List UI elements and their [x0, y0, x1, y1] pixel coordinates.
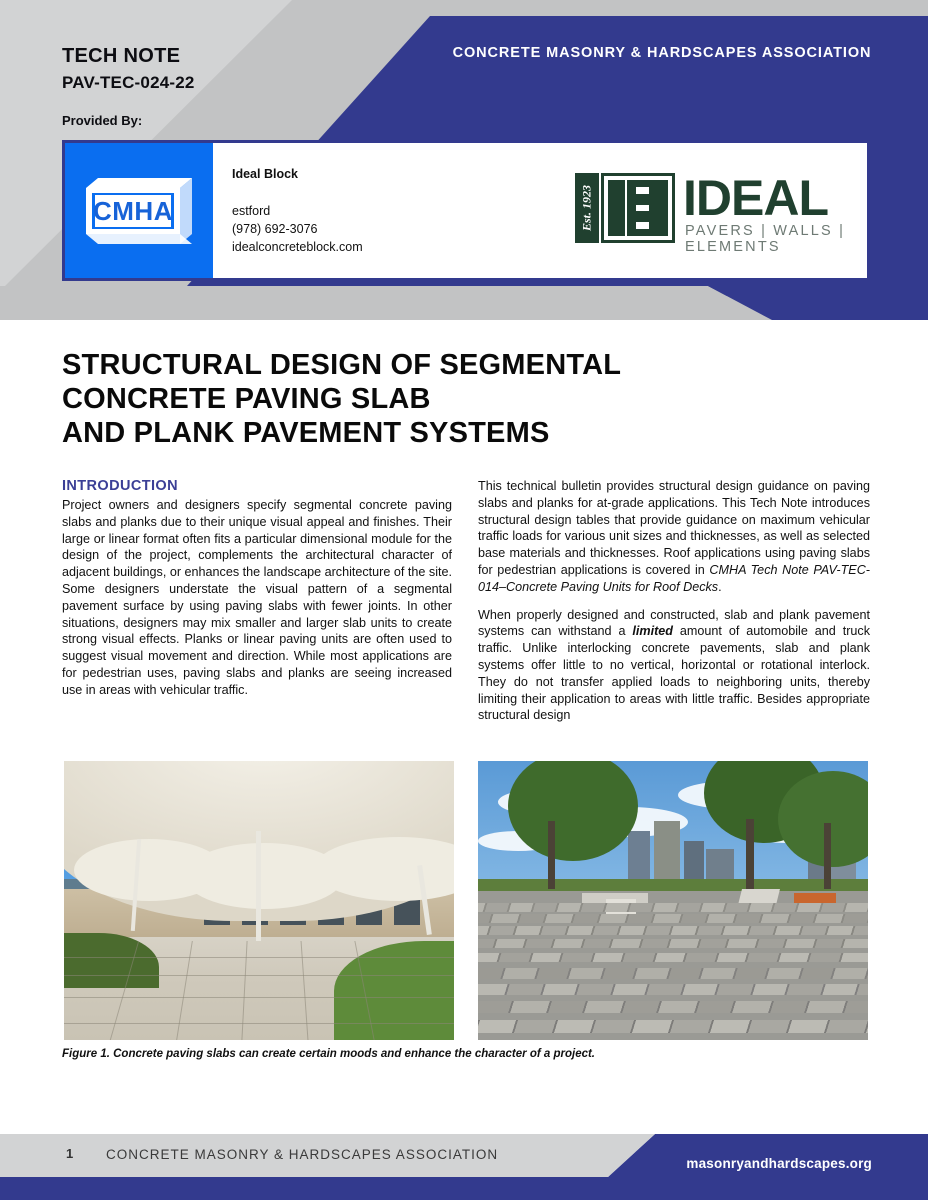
photo2-paver-row — [478, 968, 868, 979]
page-title: STRUCTURAL DESIGN OF SEGMENTAL CONCRETE … — [62, 348, 802, 450]
photo1-joint-line — [64, 957, 454, 958]
photo2-paver-row — [478, 953, 868, 962]
photo2-tree-trunk — [824, 823, 831, 889]
photo2-paver-row — [478, 939, 868, 948]
photo2-plank-paving — [478, 901, 868, 1040]
photo2-tree-trunk — [746, 819, 754, 891]
photo2-tree-trunk — [548, 821, 555, 889]
ideal-logo: Est. 1923 IDEAL PAVERS | WALLS | ELEMENT… — [575, 173, 860, 243]
right-column: This technical bulletin provides structu… — [478, 478, 870, 724]
ideal-monogram-box — [601, 173, 675, 243]
cmha-block-icon: CMHA — [86, 178, 192, 244]
page-title-line-1: STRUCTURAL DESIGN OF SEGMENTAL — [62, 348, 802, 382]
intro-paragraph: Project owners and designers specify seg… — [62, 497, 452, 699]
photo1-joint-line — [64, 1023, 454, 1024]
page-footer: 1 CONCRETE MASONRY & HARDSCAPES ASSOCIAT… — [0, 1125, 928, 1200]
figure-left-photo — [64, 761, 454, 1040]
page-header: TECH NOTE PAV-TEC-024-22 Provided By: CO… — [0, 0, 928, 320]
figure-caption: Figure 1. Concrete paving slabs can crea… — [62, 1048, 862, 1060]
right-paragraph-2: When properly designed and constructed, … — [478, 607, 870, 725]
contact-spacer — [232, 183, 363, 202]
photo2-paver-row — [478, 926, 868, 935]
ideal-wordmark: IDEAL — [683, 171, 828, 225]
ideal-established-text: Est. 1923 — [580, 185, 595, 231]
provider-contact: Ideal Block estford (978) 692-3076 ideal… — [232, 165, 363, 256]
footer-organization: CONCRETE MASONRY & HARDSCAPES ASSOCIATIO… — [106, 1147, 498, 1162]
right-p1-text-b: . — [718, 580, 722, 594]
photo2-paver-row — [478, 903, 868, 912]
page-title-line-3: AND PLANK PAVEMENT SYSTEMS — [62, 416, 802, 450]
photo2-paver-row — [478, 1001, 868, 1013]
left-column: INTRODUCTION Project owners and designer… — [62, 478, 452, 699]
photo1-joint-line — [64, 975, 454, 976]
ideal-monogram-inner — [608, 180, 668, 236]
provided-by-label: Provided By: — [62, 113, 142, 128]
page-number: 1 — [66, 1146, 73, 1161]
photo2-paver-row — [478, 914, 868, 923]
ideal-ib-icon — [608, 180, 668, 236]
photo2-paver-row — [478, 1020, 868, 1033]
association-name: CONCRETE MASONRY & HARDSCAPES ASSOCIATIO… — [452, 42, 872, 65]
provider-website[interactable]: idealconcreteblock.com — [232, 238, 363, 256]
tech-note-code: PAV-TEC-024-22 — [62, 73, 195, 93]
cmha-logo: CMHA — [65, 143, 213, 278]
svg-text:CMHA: CMHA — [93, 196, 173, 226]
tech-note-label: TECH NOTE — [62, 45, 180, 68]
photo2-paver-row — [478, 984, 868, 995]
ideal-established-badge: Est. 1923 — [575, 173, 599, 243]
section-heading-introduction: INTRODUCTION — [62, 478, 452, 494]
figure-right-photo — [478, 761, 868, 1040]
provider-company: Ideal Block — [232, 165, 363, 183]
provider-city: estford — [232, 202, 363, 220]
page-title-line-2: CONCRETE PAVING SLAB — [62, 382, 802, 416]
provider-phone[interactable]: (978) 692-3076 — [232, 220, 363, 238]
photo1-canopy-mast — [256, 831, 261, 941]
ideal-tagline: PAVERS | WALLS | ELEMENTS — [685, 223, 860, 255]
footer-website-link[interactable]: masonryandhardscapes.org — [686, 1156, 872, 1171]
right-paragraph-1: This technical bulletin provides structu… — [478, 478, 870, 596]
right-p2-emphasis: limited — [632, 624, 673, 638]
right-p2-text-b: amount of automobile and truck traffic. … — [478, 624, 870, 722]
